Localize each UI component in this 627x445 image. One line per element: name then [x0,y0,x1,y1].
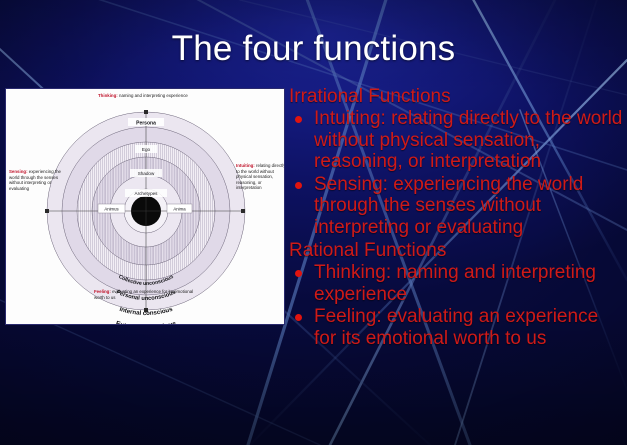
bullet-dot-icon [295,116,302,123]
slide: The four functions [0,0,627,445]
diagram-label-shadow: Shadow [138,171,155,176]
bullet-dot-icon [295,270,302,277]
diagram-caption-sensing-keyword: Sensing: [9,169,28,174]
diagram-caption-sensing: Sensing: experiencing the world through … [9,169,63,191]
diagram-caption-thinking-keyword: Thinking: [98,93,118,98]
bullet-text: Feeling: evaluating an experience for it… [314,306,598,349]
bullet-list-rational: Thinking: naming and interpreting experi… [289,262,625,349]
list-item: Feeling: evaluating an experience for it… [289,306,625,349]
psyche-diagram-figure: Persona Ego Shadow Archetypes Animus Ani… [5,88,285,325]
diagram-ring-external-conscious: External conscious [115,320,178,325]
diagram-caption-thinking-text: naming and interpreting experience [119,93,188,98]
diagram-caption-intuiting: Intuiting: relating directly to the worl… [236,163,285,191]
bullet-content: Irrational Functions Intuiting: relating… [289,86,625,351]
bullet-list-irrational: Intuiting: relating directly to the worl… [289,108,625,238]
diagram-caption-feeling-keyword: Feeling: [94,289,111,294]
diagram-caption-intuiting-keyword: Intuiting: [236,163,255,168]
bullet-dot-icon [295,182,302,189]
diagram-label-ego: Ego [142,147,151,152]
page-title: The four functions [0,29,627,69]
diagram-label-anima: Anima [173,207,186,212]
diagram-caption-feeling: Feeling: evaluating an experience for it… [94,289,202,300]
diagram-label-animus: Animus [104,207,118,212]
diagram-caption-thinking: Thinking: naming and interpreting experi… [98,93,208,99]
diagram-label-persona: Persona [136,121,156,127]
section-heading-rational: Rational Functions [289,240,625,261]
bullet-dot-icon [295,314,302,321]
diagram-label-archetypes: Archetypes [135,191,159,196]
list-item: Intuiting: relating directly to the worl… [289,108,625,173]
section-heading-irrational: Irrational Functions [289,86,625,107]
bullet-text: Intuiting: relating directly to the worl… [314,108,622,172]
list-item: Thinking: naming and interpreting experi… [289,262,625,305]
bullet-text: Thinking: naming and interpreting experi… [314,262,596,305]
bullet-text: Sensing: experiencing the world through … [314,174,583,238]
list-item: Sensing: experiencing the world through … [289,174,625,239]
